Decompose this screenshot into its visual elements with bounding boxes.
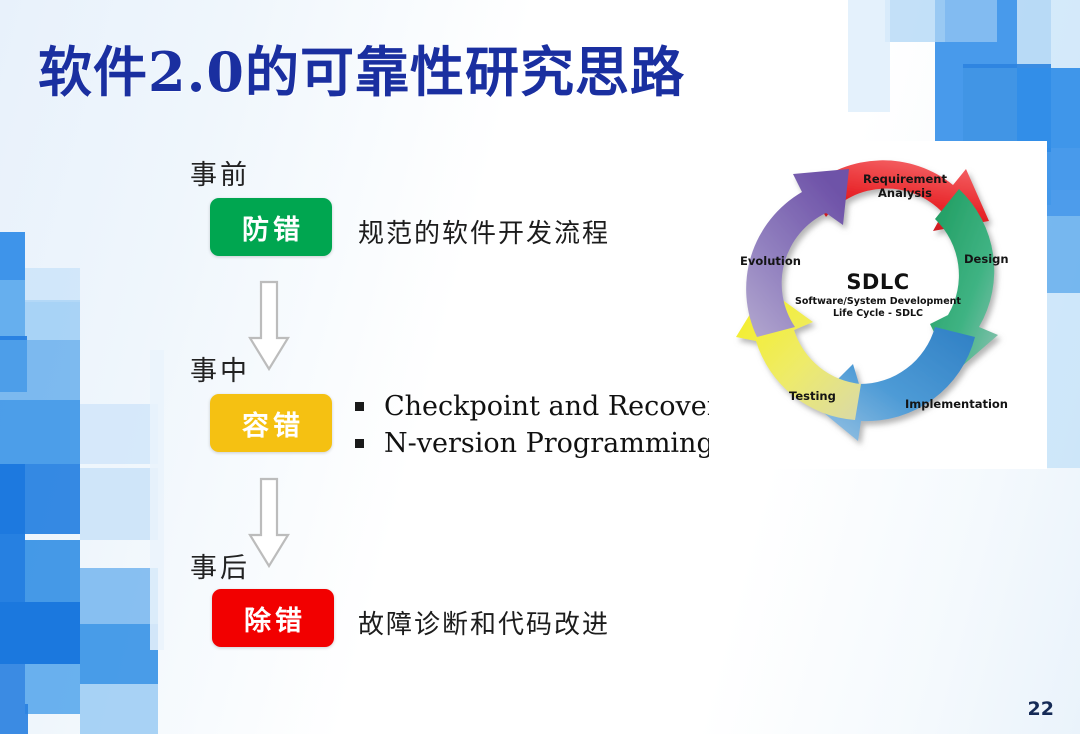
sdlc-center-subtitle: Software/System Development Life Cycle -… bbox=[709, 296, 1047, 321]
sdlc-label-testing: Testing bbox=[789, 389, 836, 403]
bullet-text: Checkpoint and Recovery bbox=[384, 391, 735, 422]
deco-rect-l-20 bbox=[0, 704, 28, 734]
chip-error-prevention[interactable]: 防错 bbox=[210, 198, 332, 256]
deco-rect-tr-7 bbox=[963, 68, 1080, 148]
sdlc-label-implementation: Implementation bbox=[905, 397, 1008, 411]
deco-rect-l-1 bbox=[0, 232, 25, 280]
deco-rect-l-16 bbox=[80, 624, 158, 684]
page-number: 22 bbox=[1028, 698, 1054, 720]
stage-label-after: 事后 bbox=[190, 546, 250, 585]
bullet-item: N-version Programming bbox=[355, 425, 735, 462]
deco-rect-tr-5 bbox=[1051, 0, 1080, 190]
deco-rect-tr-12 bbox=[848, 0, 890, 112]
square-bullet-icon bbox=[355, 439, 364, 448]
deco-rect-l-3 bbox=[25, 300, 80, 340]
sdlc-subtitle-line-2: Life Cycle - SDLC bbox=[709, 308, 1047, 320]
slide-canvas: 软件2.0的可靠性研究思路 事前 防错 规范的软件开发流程 事中 容错 Chec… bbox=[0, 0, 1080, 734]
deco-rect-l-11 bbox=[80, 468, 158, 540]
bullet-text: N-version Programming bbox=[384, 428, 714, 459]
sdlc-center-title: SDLC bbox=[709, 270, 1047, 294]
down-arrow-2 bbox=[248, 477, 290, 569]
stage-label-before: 事前 bbox=[190, 153, 250, 192]
deco-rect-tr-3 bbox=[885, 0, 997, 42]
square-bullet-icon bbox=[355, 402, 364, 411]
deco-rect-l-17 bbox=[0, 664, 25, 704]
sdlc-diagram: SDLC Software/System Development Life Cy… bbox=[709, 141, 1047, 469]
deco-rect-l-2 bbox=[0, 280, 25, 340]
sdlc-label-line-1: Requirement bbox=[850, 172, 960, 186]
stage-label-during: 事中 bbox=[190, 349, 250, 388]
deco-rect-l-14 bbox=[80, 568, 158, 624]
chip-debugging[interactable]: 除错 bbox=[212, 589, 334, 647]
sdlc-subtitle-line-1: Software/System Development bbox=[709, 296, 1047, 308]
page-title: 软件2.0的可靠性研究思路 bbox=[38, 28, 685, 107]
deco-rect-l-4 bbox=[25, 268, 80, 302]
sdlc-label-design: Design bbox=[964, 252, 1009, 266]
down-arrow-1 bbox=[248, 280, 290, 372]
deco-rect-tr-6 bbox=[963, 64, 1051, 152]
deco-rect-l-10 bbox=[25, 464, 80, 534]
deco-rect-l-7 bbox=[0, 400, 80, 464]
chip-fault-tolerance[interactable]: 容错 bbox=[210, 394, 332, 452]
deco-rect-l-15 bbox=[0, 602, 80, 664]
deco-rect-l-18 bbox=[25, 664, 80, 714]
stage-bullets-during: Checkpoint and Recovery N-version Progra… bbox=[355, 388, 735, 463]
deco-rect-l-13 bbox=[25, 540, 80, 602]
bullet-item: Checkpoint and Recovery bbox=[355, 388, 735, 425]
deco-rect-l-21 bbox=[150, 350, 164, 650]
deco-rect-l-5 bbox=[0, 336, 27, 392]
sdlc-label-requirement-analysis: Requirement Analysis bbox=[850, 172, 960, 200]
sdlc-label-evolution: Evolution bbox=[740, 254, 801, 268]
deco-rect-l-9 bbox=[0, 464, 25, 534]
sdlc-label-line-2: Analysis bbox=[850, 186, 960, 200]
deco-rect-l-8 bbox=[80, 404, 158, 464]
deco-rect-l-12 bbox=[0, 534, 25, 602]
deco-rect-l-6 bbox=[0, 340, 80, 400]
stage-description-before: 规范的软件开发流程 bbox=[358, 213, 610, 250]
stage-description-after: 故障诊断和代码改进 bbox=[358, 604, 610, 641]
deco-rect-l-19 bbox=[80, 684, 158, 734]
deco-rect-tr-2 bbox=[885, 0, 945, 42]
